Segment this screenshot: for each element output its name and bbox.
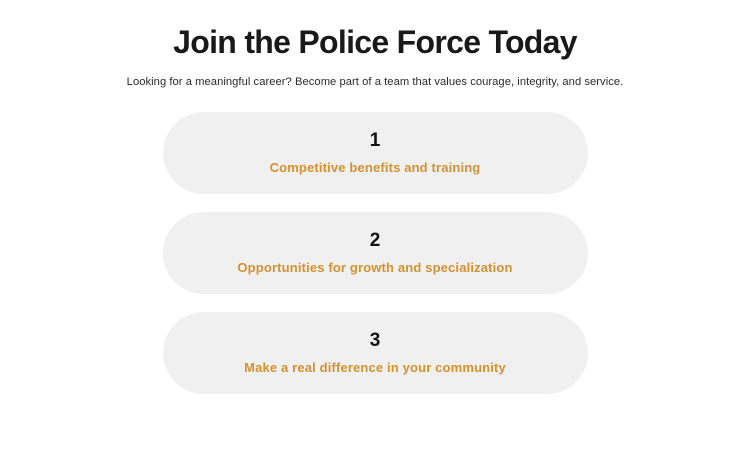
benefit-card-1[interactable]: 1 Competitive benefits and training: [163, 112, 588, 194]
landing-page: Join the Police Force Today Looking for …: [0, 0, 750, 449]
benefit-card-label: Make a real difference in your community: [244, 360, 506, 376]
benefit-card-2[interactable]: 2 Opportunities for growth and specializ…: [163, 212, 588, 294]
hero-section: Join the Police Force Today Looking for …: [0, 0, 750, 90]
benefit-card-number: 3: [370, 331, 381, 351]
benefit-card-number: 1: [370, 131, 381, 151]
benefit-card-number: 2: [370, 231, 381, 251]
benefit-card-3[interactable]: 3 Make a real difference in your communi…: [163, 312, 588, 394]
page-title: Join the Police Force Today: [0, 22, 750, 62]
benefit-card-label: Competitive benefits and training: [270, 160, 481, 176]
benefit-card-label: Opportunities for growth and specializat…: [237, 260, 512, 276]
page-subtitle: Looking for a meaningful career? Become …: [0, 74, 750, 90]
benefits-card-list: 1 Competitive benefits and training 2 Op…: [163, 112, 588, 394]
